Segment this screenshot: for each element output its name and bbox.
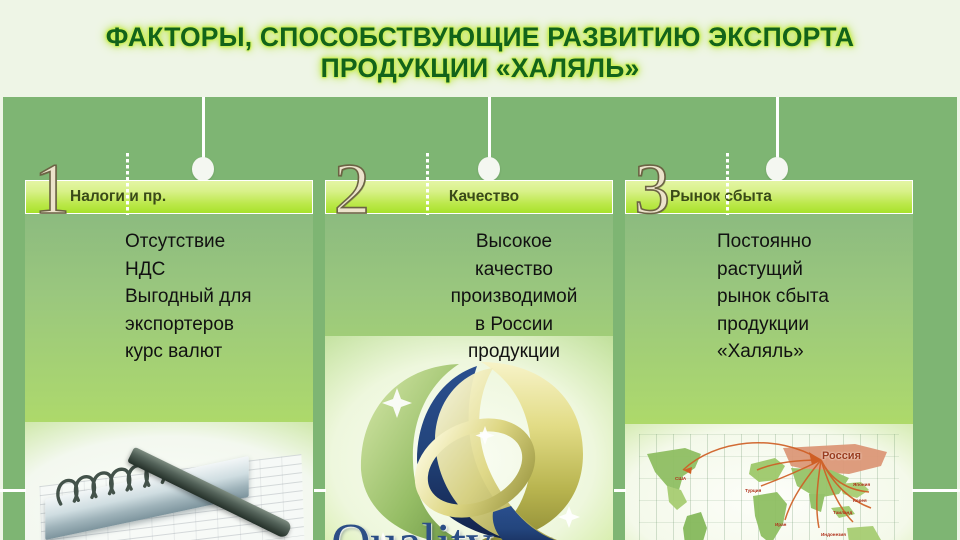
card-3-number: 3 xyxy=(634,153,670,225)
svg-text:Япония: Япония xyxy=(853,482,870,487)
card-1-number: 1 xyxy=(34,153,70,225)
card-3-text: Постоянно растущий рынок сбыта продукции… xyxy=(625,214,913,366)
connector-dot-2 xyxy=(478,157,500,181)
notebook-pen-spreadsheet-photo xyxy=(25,422,313,540)
card-1-header: 1 Налоги и пр. xyxy=(25,180,313,214)
card-3-body: Постоянно растущий рынок сбыта продукции… xyxy=(625,214,913,540)
card-1-dotted-divider xyxy=(126,153,129,215)
ribbon-swirl-graphic xyxy=(325,344,613,540)
slide-canvas: ФАКТОРЫ, СПОСОБСТВУЮЩИЕ РАЗВИТИЮ ЭКСПОРТ… xyxy=(0,0,960,540)
svg-text:Турция: Турция xyxy=(745,488,762,493)
edge-tick-mid-left xyxy=(314,489,326,492)
factor-card-2[interactable]: 2 Качество Высокое качество производимой… xyxy=(325,180,613,540)
svg-text:Иран: Иран xyxy=(775,522,787,527)
svg-text:Индонезия: Индонезия xyxy=(821,532,846,537)
quality-ribbon-logo: Quality xyxy=(325,336,613,540)
svg-text:Таиланд: Таиланд xyxy=(833,510,852,515)
quality-wordmark: Quality xyxy=(331,514,492,540)
card-1-text: Отсутствие НДС Выгодный для экспортеров … xyxy=(25,214,313,366)
factor-card-3[interactable]: 3 Рынок сбыта Постоянно растущий рынок с… xyxy=(625,180,913,540)
card-2-number: 2 xyxy=(334,153,370,225)
card-2-dotted-divider xyxy=(426,153,429,215)
world-map-graphic: США Турция Иран Япония Корея Таиланд Инд… xyxy=(625,424,913,540)
connector-dot-3 xyxy=(766,157,788,181)
connector-dot-1 xyxy=(192,157,214,181)
card-3-dotted-divider xyxy=(726,153,729,215)
card-2-text: Высокое качество производимой в России п… xyxy=(325,214,613,366)
edge-tick-left xyxy=(0,489,26,492)
russia-map-label: Россия xyxy=(822,450,861,462)
svg-text:Корея: Корея xyxy=(853,498,867,503)
card-1-body: Отсутствие НДС Выгодный для экспортеров … xyxy=(25,214,313,540)
world-map-trade-routes: США Турция Иран Япония Корея Таиланд Инд… xyxy=(625,424,913,540)
svg-text:США: США xyxy=(675,476,687,481)
card-2-header: 2 Качество xyxy=(325,180,613,214)
factor-card-1[interactable]: 1 Налоги и пр. Отсутствие НДС Выгодный д… xyxy=(25,180,313,540)
edge-tick-right xyxy=(912,489,960,492)
card-2-body: Высокое качество производимой в России п… xyxy=(325,214,613,540)
edge-tick-mid-right xyxy=(614,489,626,492)
page-title: ФАКТОРЫ, СПОСОБСТВУЮЩИЕ РАЗВИТИЮ ЭКСПОРТ… xyxy=(40,22,920,84)
card-3-header: 3 Рынок сбыта xyxy=(625,180,913,214)
